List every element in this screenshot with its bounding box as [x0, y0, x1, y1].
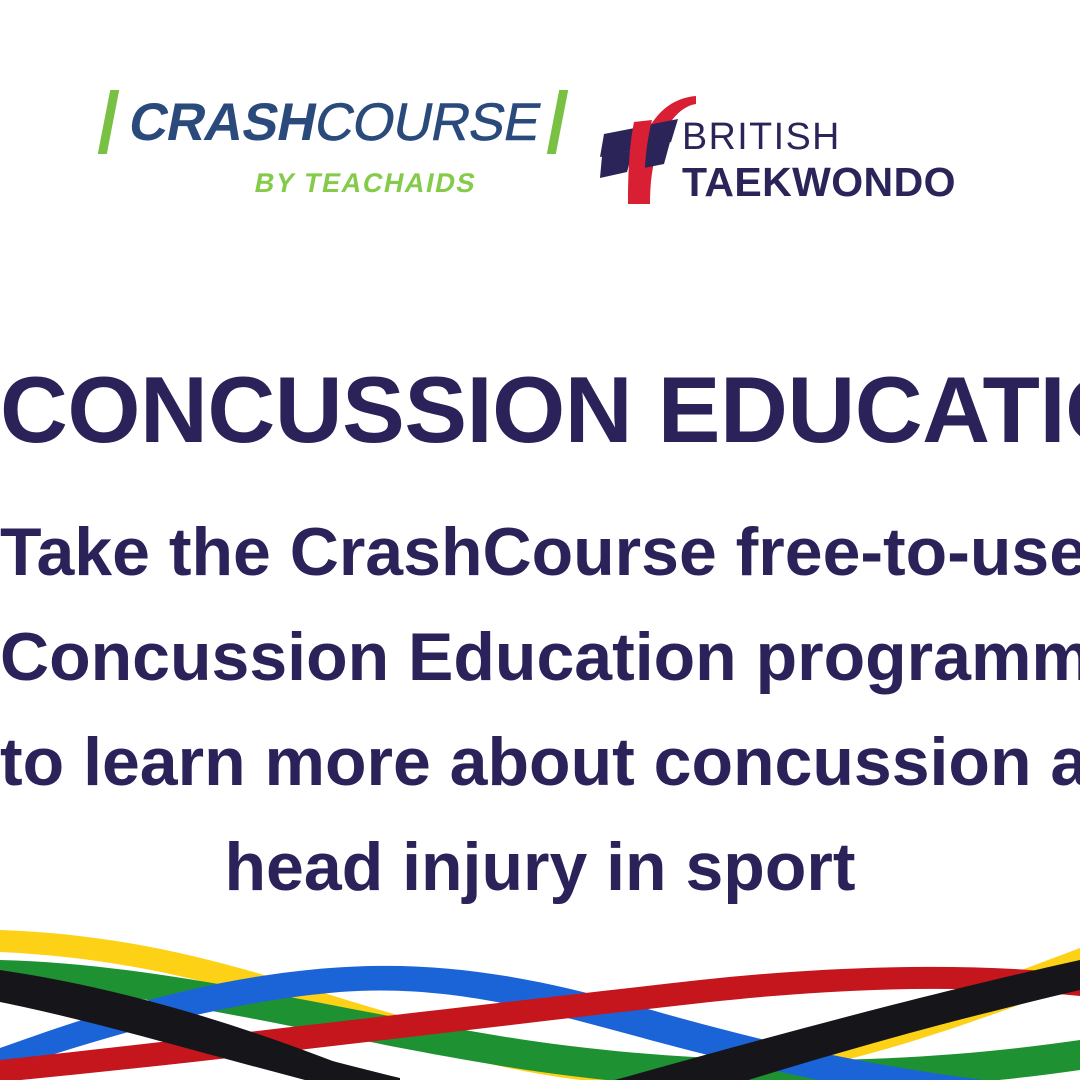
logo-row: CRASH COURSE BY TEACHAIDS [0, 86, 1080, 226]
body-line-3: to learn more about concussion and [0, 710, 1080, 815]
body-line-4: head injury in sport [0, 815, 1080, 920]
body-copy: Take the CrashCourse free-to-use Concuss… [0, 500, 1080, 920]
crashcourse-tagline: BY TEACHAIDS [252, 168, 479, 199]
crashcourse-word-light: COURSE [311, 96, 545, 149]
poster-canvas: CRASH COURSE BY TEACHAIDS [0, 0, 1080, 1080]
body-line-1: Take the CrashCourse free-to-use [0, 500, 1080, 605]
body-line-2: Concussion Education programme [0, 605, 1080, 710]
british-taekwondo-logo: BRITISH TAEKWONDO [600, 94, 960, 214]
crashcourse-wordmark: CRASH COURSE [104, 86, 562, 158]
decorative-ribbon-band [0, 920, 1080, 1080]
crashcourse-logo: CRASH COURSE BY TEACHAIDS [104, 86, 484, 221]
green-slash-left-icon [98, 90, 119, 154]
crashcourse-word-bold: CRASH [125, 96, 321, 149]
british-taekwondo-line1: BRITISH [682, 118, 953, 156]
british-taekwondo-line2: TAEKWONDO [682, 162, 956, 203]
british-taekwondo-wordmark: BRITISH TAEKWONDO [682, 118, 956, 203]
green-slash-right-icon [546, 90, 567, 154]
page-title: CONCUSSION EDUCATION [0, 363, 1080, 457]
